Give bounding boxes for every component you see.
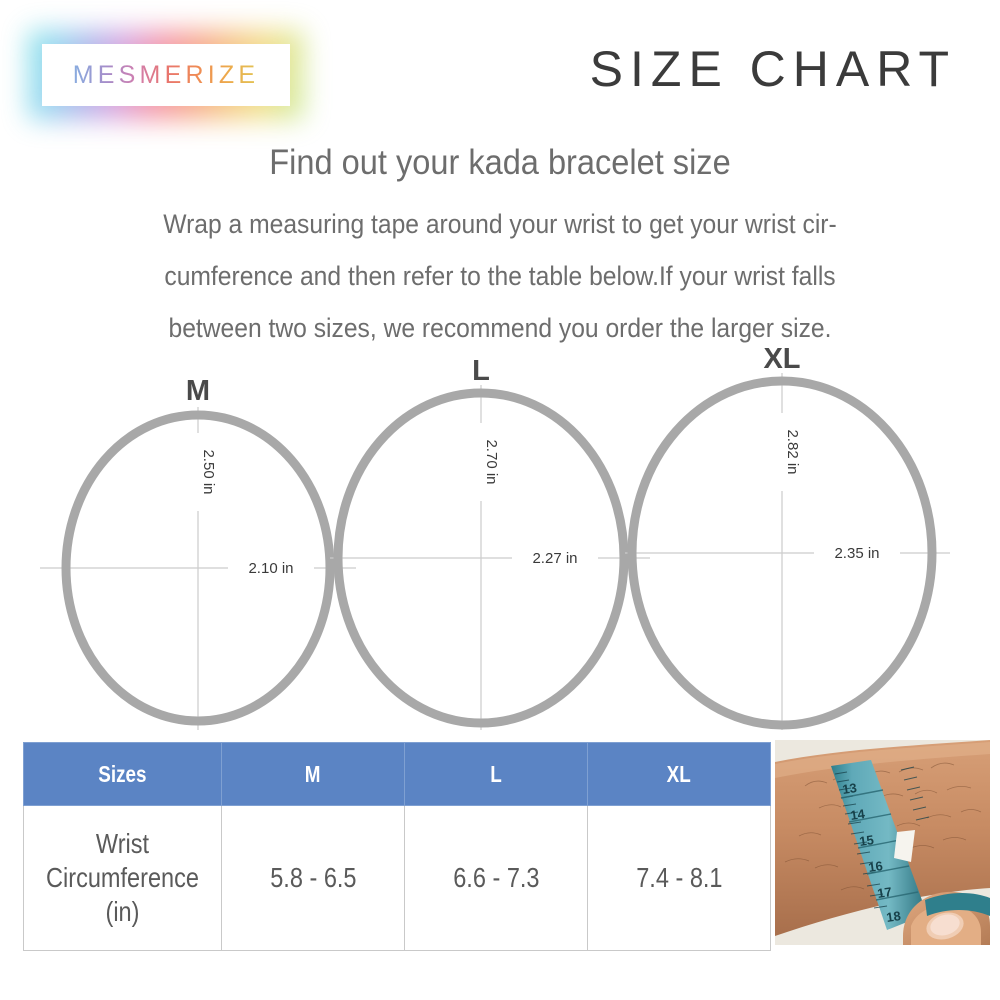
table-header-sizes: Sizes	[24, 743, 222, 806]
table-row: Wrist Circumference (in) 5.8 - 6.5 6.6 -…	[24, 806, 771, 951]
row-label-wrist-circumference: Wrist Circumference (in)	[24, 806, 222, 951]
oval-l-width-label: 2.27 in	[532, 550, 577, 567]
tape-mark-15: 15	[858, 832, 874, 849]
tape-mark-14: 14	[849, 806, 866, 823]
subheading: Find out your kada bracelet size	[35, 143, 965, 183]
wrist-measuring-photo: 13 14 15 16 17 18	[775, 740, 990, 945]
tape-mark-18: 18	[885, 908, 901, 925]
tape-mark-13: 13	[841, 780, 857, 797]
table-header-l: L	[405, 743, 588, 806]
tape-mark-16: 16	[867, 858, 883, 875]
ovals-svg: 2.50 in 2.70 in 2.82 in 2.10 in 2.27 in …	[0, 345, 1000, 745]
oval-l-height-label: 2.70 in	[483, 439, 500, 484]
oval-xl-height-label: 2.82 in	[784, 429, 801, 474]
cell-wrist-circumference-l: 6.6 - 7.3	[405, 806, 588, 951]
oval-label-m: M	[168, 375, 228, 408]
wrist-photo-svg: 13 14 15 16 17 18	[775, 740, 990, 945]
oval-m-width-label: 2.10 in	[248, 560, 293, 577]
cell-wrist-circumference-m: 5.8 - 6.5	[222, 806, 405, 951]
oval-diagram-m	[40, 407, 356, 730]
oval-xl-width-label: 2.35 in	[834, 545, 879, 562]
table-header-xl: XL	[588, 743, 771, 806]
tape-mark-17: 17	[876, 884, 892, 901]
oval-m-height-label: 2.50 in	[200, 449, 217, 494]
brand-name: MESMERIZE	[42, 44, 290, 106]
intro-line-2: cumference and then refer to the table b…	[77, 250, 923, 302]
page-title: SIZE CHART	[590, 40, 956, 98]
table-header-m: M	[222, 743, 405, 806]
cell-wrist-circumference-xl: 7.4 - 8.1	[588, 806, 771, 951]
size-diagrams: 2.50 in 2.70 in 2.82 in 2.10 in 2.27 in …	[0, 345, 1000, 745]
intro-paragraph: Wrap a measuring tape around your wrist …	[45, 198, 955, 354]
table-header-row: Sizes M L XL	[24, 743, 771, 806]
intro-line-1: Wrap a measuring tape around your wrist …	[77, 198, 923, 250]
oval-diagram-xl	[625, 373, 950, 730]
oval-diagram-l	[330, 385, 650, 730]
oval-label-l: L	[451, 355, 511, 388]
size-table: Sizes M L XL Wrist Circumference (in) 5.…	[23, 742, 771, 951]
oval-label-xl: XL	[748, 343, 816, 376]
brand-logo: MESMERIZE	[42, 44, 290, 106]
